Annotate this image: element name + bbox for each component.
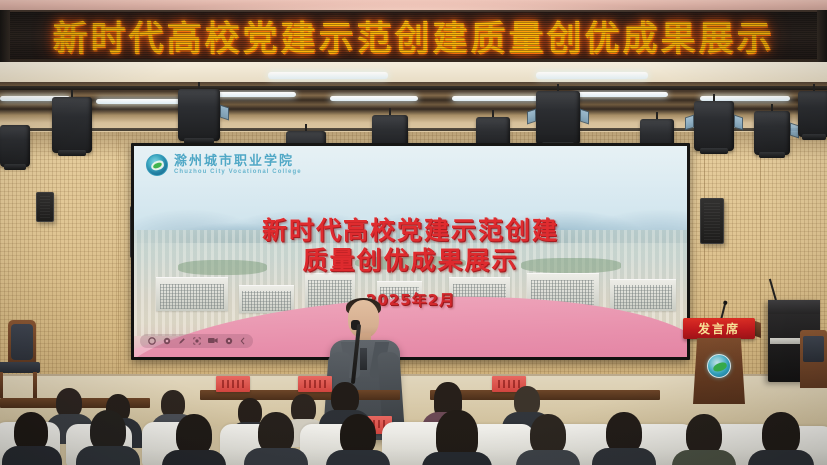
projection-screen[interactable]: 滁州城市职业学院 Chuzhou City Vocational College…	[134, 146, 687, 357]
wall-speaker	[700, 198, 724, 244]
person-shoulders	[244, 448, 308, 465]
stage-light-fixture	[798, 84, 827, 142]
audience-desk	[430, 390, 660, 400]
piano-lid	[768, 300, 820, 314]
barn-door	[220, 105, 229, 121]
fluorescent-tube	[96, 99, 182, 104]
slide-title-line-2: 质量创优成果展示	[134, 246, 687, 277]
podium-sign-text: 发言席	[698, 320, 740, 337]
ceiling-soffit	[0, 62, 827, 82]
person-shoulders	[516, 450, 580, 465]
person-shoulders	[422, 452, 492, 465]
person-shoulders	[326, 450, 390, 465]
podium-sign: 发言席	[683, 318, 755, 339]
led-banner-text: 新时代高校党建示范创建质量创优成果展示	[0, 10, 827, 61]
desk-name-card	[216, 376, 250, 392]
presenter-tie	[360, 348, 367, 370]
fluorescent-tube	[536, 72, 648, 79]
person-shoulders	[162, 450, 226, 465]
chuzhou-college-emblem-icon	[146, 154, 168, 176]
pen-annotate-icon[interactable]	[178, 337, 186, 345]
fluorescent-tube	[452, 96, 544, 101]
auditorium-scene-photo: 新时代高校党建示范创建质量创优成果展示	[0, 0, 827, 465]
stage-light-fixture	[0, 118, 30, 168]
person-shoulders	[748, 450, 814, 465]
person-shoulders	[672, 450, 736, 465]
banner-frame-right	[817, 10, 827, 62]
chair-cushion	[11, 324, 33, 360]
person-shoulders	[592, 448, 656, 465]
settings-circle-icon[interactable]	[225, 337, 233, 345]
fluorescent-tube	[576, 92, 668, 97]
wall-speaker	[36, 192, 54, 222]
wall-panel-seam	[118, 132, 119, 400]
audience-area	[0, 378, 827, 465]
lighting-truss-bar	[0, 86, 827, 90]
stage-light-fixture	[694, 94, 734, 162]
focus-target-icon[interactable]	[193, 337, 201, 345]
record-dot-icon[interactable]	[148, 337, 156, 345]
barn-door	[580, 109, 589, 125]
fluorescent-tube	[330, 96, 418, 101]
stage-light-fixture	[754, 104, 790, 164]
video-camera-icon[interactable]	[208, 337, 218, 345]
banner-frame-left	[0, 10, 10, 62]
person-shoulders	[76, 446, 140, 465]
projection-screen-frame: 滁州城市职业学院 Chuzhou City Vocational College…	[131, 143, 690, 360]
barn-door	[734, 115, 743, 131]
collapse-chevron-icon[interactable]	[240, 337, 245, 345]
person-shoulders	[2, 446, 62, 465]
stage-light-fixture	[52, 90, 92, 160]
slide-title-line-1: 新时代高校党建示范创建	[134, 216, 687, 247]
led-banner: 新时代高校党建示范创建质量创优成果展示	[0, 10, 827, 62]
wall-panel-seam	[760, 132, 761, 400]
slide-title-block: 新时代高校党建示范创建 质量创优成果展示 2025年2月	[134, 216, 687, 310]
slide-logo-chinese-name: 滁州城市职业学院	[174, 155, 302, 169]
slide-logo: 滁州城市职业学院 Chuzhou City Vocational College	[146, 154, 302, 176]
slide-date: 2025年2月	[134, 289, 687, 310]
fluorescent-tube	[268, 72, 388, 79]
podium-college-emblem-icon	[707, 354, 731, 378]
capture-circle-icon[interactable]	[163, 337, 171, 345]
desk-name-card	[298, 376, 332, 392]
presentation-annotation-toolbar[interactable]	[140, 334, 253, 348]
slide-logo-english-name: Chuzhou City Vocational College	[174, 169, 302, 175]
